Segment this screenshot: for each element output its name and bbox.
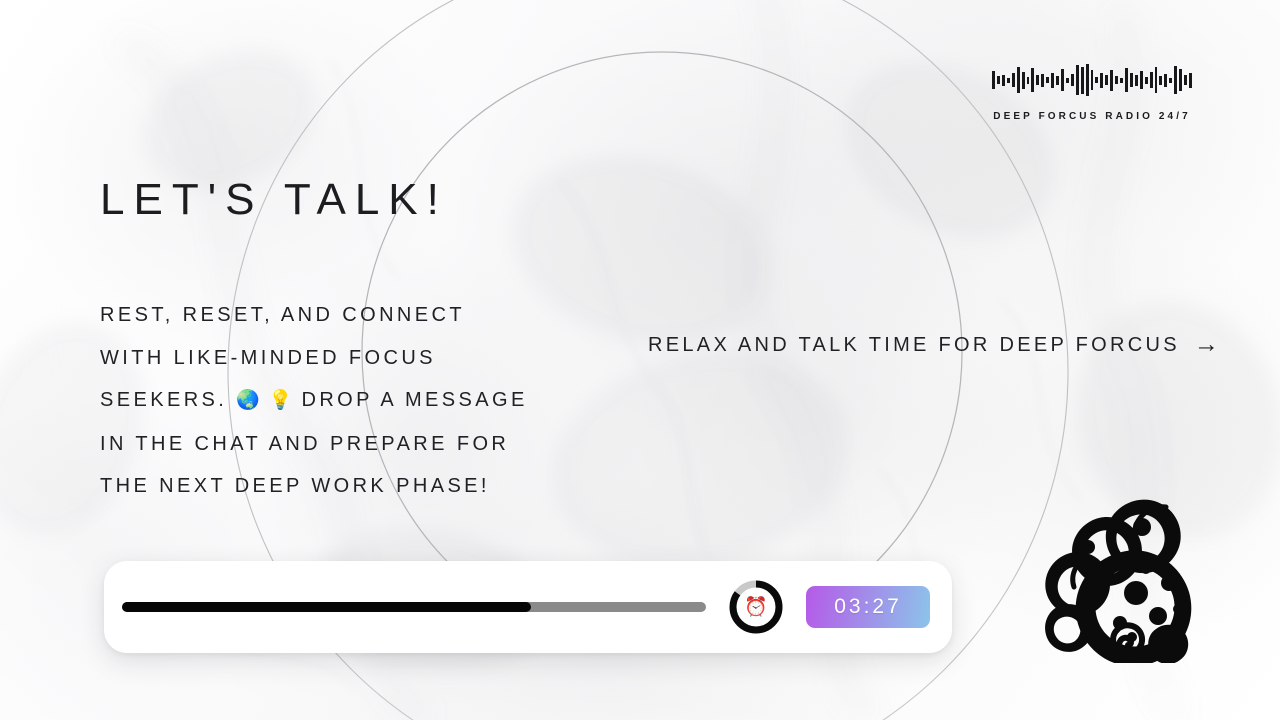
waveform-bar — [1179, 69, 1182, 91]
blurb-line-4: IN THE CHAT AND PREPARE FOR — [100, 433, 509, 455]
waveform-bar — [1066, 78, 1069, 83]
waveform-bar — [1071, 74, 1074, 86]
waveform-bar — [1125, 68, 1128, 92]
waveform-bar — [1081, 67, 1084, 94]
waveform-bar — [1130, 73, 1133, 87]
slide-canvas: DEEP FORCUS RADIO 24/7 LET'S TALK! REST,… — [0, 0, 1280, 720]
waveform-bar — [1041, 74, 1044, 87]
waveform-bar — [1017, 67, 1020, 93]
waveform-bar — [1002, 75, 1005, 86]
waveform-bar — [1056, 76, 1059, 85]
waveform-bar — [1115, 76, 1118, 84]
waveform-bar — [1174, 66, 1177, 94]
waveform-bar — [1150, 72, 1153, 88]
blurb-line-3-prefix: SEEKERS. — [100, 389, 227, 411]
waveform-bar — [1091, 70, 1094, 90]
arrow-right-icon: → — [1194, 332, 1219, 357]
blurb-line-5: THE NEXT DEEP WORK PHASE! — [100, 475, 490, 497]
timer-dial-button[interactable]: ⏰ — [728, 579, 784, 635]
alarm-clock-icon: ⏰ — [728, 579, 784, 635]
progress-fill — [122, 602, 531, 612]
waveform-bar — [1140, 71, 1143, 89]
waveform-bar — [992, 71, 995, 89]
globe-icon: 🌏 — [236, 390, 260, 411]
waveform-bar — [1022, 72, 1025, 89]
page-title: LET'S TALK! — [100, 178, 448, 222]
progress-slider[interactable] — [122, 602, 706, 612]
waveform-bar — [1184, 75, 1187, 85]
waveform-bar — [1012, 73, 1015, 87]
waveform-bar — [1120, 78, 1123, 83]
waveform-bar — [1076, 65, 1079, 95]
intro-paragraph: REST, RESET, AND CONNECT WITH LIKE-MINDE… — [100, 294, 570, 508]
waveform-bar — [1164, 74, 1167, 87]
waveform-bar — [997, 76, 1000, 84]
waveform-bar — [1027, 77, 1030, 84]
brand-caption: DEEP FORCUS RADIO 24/7 — [992, 111, 1192, 122]
waveform-bar — [1100, 73, 1103, 88]
tagline: RELAX AND TALK TIME FOR DEEP FORCUS → — [648, 333, 1219, 358]
waveform-bar — [1169, 78, 1172, 83]
brand-logo: DEEP FORCUS RADIO 24/7 — [992, 58, 1192, 122]
waveform-bar — [1051, 73, 1054, 88]
waveform-bar — [1159, 76, 1162, 85]
waveform-bar — [1007, 78, 1010, 83]
lightbulb-icon: 💡 — [269, 390, 293, 411]
waveform-bar — [1110, 70, 1113, 91]
blurb-line-3-suffix: DROP A MESSAGE — [302, 389, 528, 411]
abstract-bubble-cluster-icon — [1038, 483, 1218, 663]
waveform-bar — [1095, 77, 1098, 83]
waveform-bar — [1036, 75, 1039, 85]
waveform-bar — [1061, 69, 1064, 91]
waveform-bar — [1189, 73, 1192, 88]
waveform-bar — [1086, 64, 1089, 96]
blurb-line-1: REST, RESET, AND CONNECT — [100, 304, 465, 326]
waveform-bar — [1105, 75, 1108, 85]
audio-waveform-icon — [992, 58, 1192, 102]
waveform-bar — [1155, 67, 1158, 93]
time-remaining-badge[interactable]: 03:27 — [806, 586, 930, 628]
waveform-bar — [1135, 75, 1138, 86]
waveform-bar — [1046, 77, 1049, 83]
waveform-bar — [1031, 68, 1034, 92]
tagline-label: RELAX AND TALK TIME FOR DEEP FORCUS — [648, 334, 1180, 357]
waveform-bar — [1145, 77, 1148, 84]
audio-player-bar: ⏰ 03:27 — [104, 561, 952, 653]
blurb-line-2: WITH LIKE-MINDED FOCUS — [100, 347, 436, 369]
